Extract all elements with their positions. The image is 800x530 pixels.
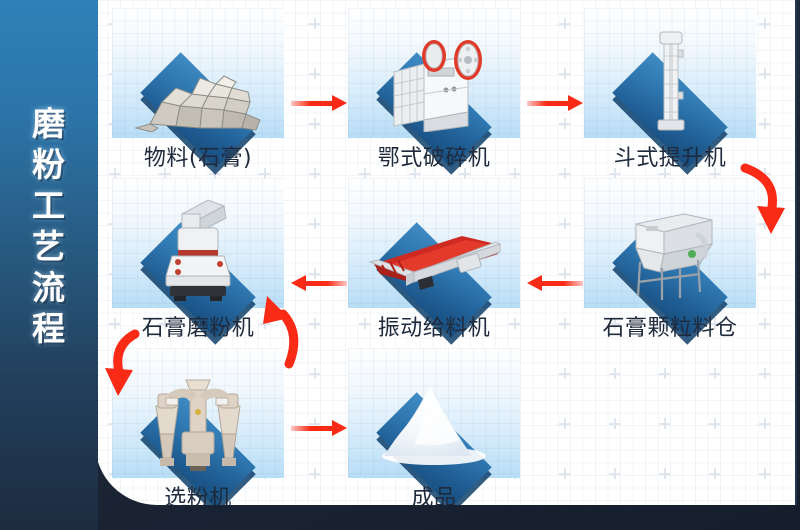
flow-node-label: 斗式提升机 [584, 140, 756, 172]
plus-mark [309, 68, 320, 79]
sidebar-title-char-3: 工 [32, 186, 66, 227]
plus-mark [609, 468, 620, 479]
flow-node-label: 鄂式破碎机 [348, 140, 520, 172]
plus-mark [709, 368, 720, 379]
flow-node-bucket-elevator[interactable]: 斗式提升机 [584, 8, 756, 168]
plus-mark [759, 318, 770, 329]
connector-arrow-raw-material-to-jaw-crusher [291, 95, 347, 111]
vibrating-feeder-icon [366, 224, 502, 294]
sidebar-title-char-5: 流 [32, 268, 66, 309]
plus-mark [309, 168, 320, 179]
flow-node-label: 石膏颗粒料仓 [584, 310, 756, 342]
panel-right-edge [795, 0, 797, 505]
particle-storage-silo-icon [620, 210, 720, 306]
plus-mark [659, 368, 670, 379]
connector-arrow-feeder-to-grinding-mill [291, 275, 347, 291]
plus-mark [559, 18, 570, 29]
connector-arrow-separator-to-mill [253, 290, 311, 372]
plus-mark [309, 118, 320, 129]
connector-arrow-mill-to-separator [101, 328, 159, 406]
plus-mark [559, 368, 570, 379]
flow-node-jaw-crusher[interactable]: 鄂式破碎机 [348, 8, 520, 168]
flow-node-label: 成品 [348, 480, 520, 505]
sidebar-title-char-1: 磨 [32, 104, 66, 145]
raymond-grinding-mill-icon [152, 192, 244, 306]
plus-mark [559, 118, 570, 129]
sidebar-vertical-title: 磨 粉 工 艺 流 程 [0, 104, 98, 349]
flow-node-label: 物料(石膏) [112, 140, 284, 172]
white-powder-pile-icon [376, 378, 492, 470]
flow-node-label: 振动给料机 [348, 310, 520, 342]
jaw-crusher-icon [376, 34, 492, 136]
plus-mark [709, 468, 720, 479]
plus-mark [709, 418, 720, 429]
gypsum-rock-pile-icon [132, 62, 264, 136]
plus-mark [759, 18, 770, 29]
plus-mark [559, 168, 570, 179]
plus-mark [659, 468, 670, 479]
flow-node-gypsum-silo[interactable]: 石膏颗粒料仓 [584, 178, 756, 338]
sidebar-title-char-6: 程 [32, 309, 66, 350]
connector-arrow-elevator-to-silo [735, 160, 797, 240]
flow-node-final-product[interactable]: 成品 [348, 348, 520, 505]
flow-node-raw-material[interactable]: 物料(石膏) [112, 8, 284, 168]
connector-arrow-separator-to-final-product [291, 420, 347, 436]
flow-diagram-canvas: 磨 粉 工 艺 流 程 [0, 0, 800, 530]
plus-mark [309, 218, 320, 229]
plus-mark [609, 368, 620, 379]
connector-arrow-silo-to-vibrating-feeder [527, 275, 583, 291]
plus-mark [759, 68, 770, 79]
flow-node-vibrating-feeder[interactable]: 振动给料机 [348, 178, 520, 338]
plus-mark [759, 368, 770, 379]
sidebar-title-char-2: 粉 [32, 145, 66, 186]
plus-mark [609, 418, 620, 429]
plus-mark [559, 218, 570, 229]
plus-mark [759, 118, 770, 129]
diagram-panel: 物料(石膏) [95, 0, 797, 505]
plus-mark [759, 468, 770, 479]
plus-mark [759, 268, 770, 279]
connector-arrow-jaw-crusher-to-bucket-elevator [527, 95, 583, 111]
plus-mark [309, 18, 320, 29]
plus-mark [559, 318, 570, 329]
plus-mark [309, 468, 320, 479]
plus-mark [559, 468, 570, 479]
plus-mark [759, 418, 770, 429]
sidebar: 磨 粉 工 艺 流 程 [0, 0, 98, 530]
bucket-elevator-icon [644, 26, 696, 136]
sidebar-title-char-4: 艺 [32, 227, 66, 268]
plus-mark [559, 418, 570, 429]
flow-node-label: 选粉机 [112, 480, 284, 505]
plus-mark [659, 418, 670, 429]
plus-mark [559, 68, 570, 79]
